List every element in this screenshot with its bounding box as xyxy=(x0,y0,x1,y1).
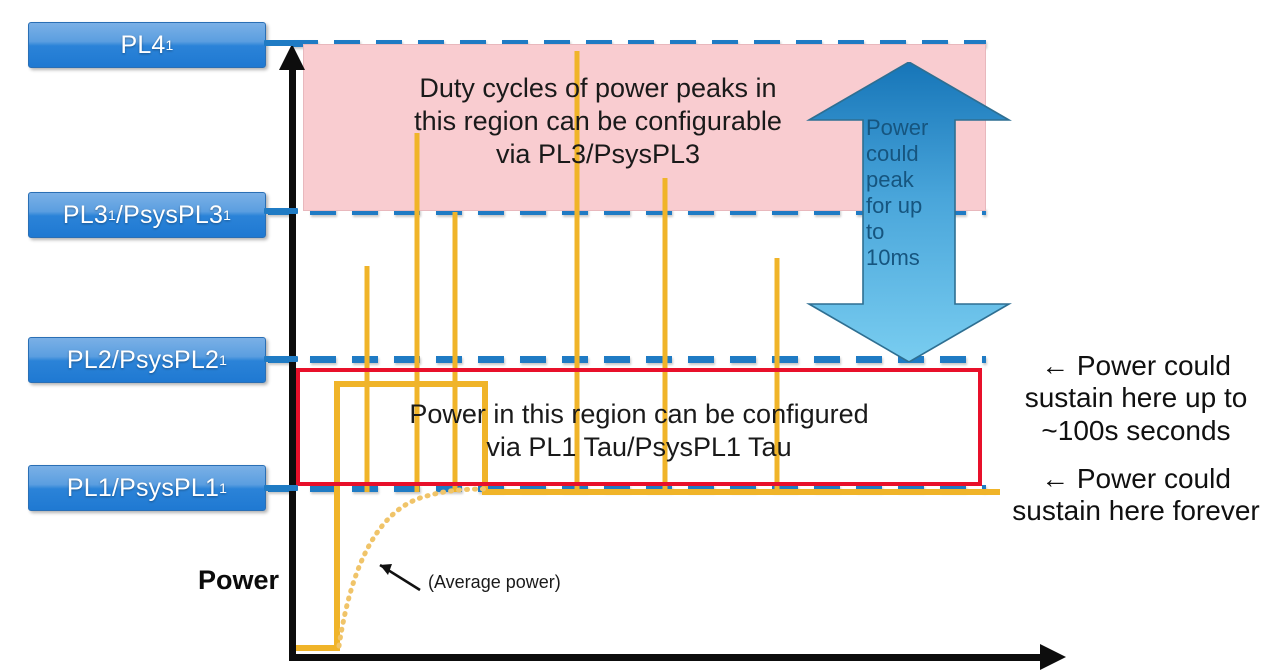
level-chip-pl4[interactable]: PL41 xyxy=(28,22,266,68)
power-peak-duration-text: Power could peak for up to 10ms xyxy=(866,115,952,271)
y-axis-label: Power xyxy=(198,565,279,596)
average-power-pointer xyxy=(380,564,420,590)
level-chip-pl1[interactable]: PL1/PsysPL11 xyxy=(28,465,266,511)
level-chip-pl1-label: PL1/PsysPL1 xyxy=(67,474,219,503)
level-chip-pl3-label: PL3 xyxy=(63,201,108,230)
level-stub-pl1 xyxy=(264,485,298,491)
y-axis-line xyxy=(289,68,296,660)
average-power-label: (Average power) xyxy=(428,572,561,593)
level-stub-pl4 xyxy=(264,40,298,46)
level-chip-pl2[interactable]: PL2/PsysPL21 xyxy=(28,337,266,383)
level-chip-pl4-label: PL4 xyxy=(120,31,165,60)
level-stub-pl3 xyxy=(264,208,298,214)
diagram-canvas: Duty cycles of power peaks in this regio… xyxy=(0,0,1280,672)
level-chip-pl3[interactable]: PL31/PsysPL31 xyxy=(28,192,266,238)
level-chip-pl3-mid: /PsysPL3 xyxy=(116,201,223,230)
side-note-sustain-forever: ← Power could sustain here forever xyxy=(1000,463,1272,528)
level-chip-pl2-label: PL2/PsysPL2 xyxy=(67,346,219,375)
pl3-duty-cycle-text: Duty cycles of power peaks in this regio… xyxy=(318,72,878,171)
x-axis-arrowhead xyxy=(1040,644,1066,670)
y-axis-arrowhead xyxy=(279,44,305,70)
side-note-sustain-100s: ← Power could sustain here up to ~100s s… xyxy=(1000,350,1272,447)
x-axis-line xyxy=(289,654,1044,661)
pl1-tau-region-text: Power in this region can be configured v… xyxy=(308,398,970,464)
level-stub-pl2 xyxy=(264,356,298,362)
